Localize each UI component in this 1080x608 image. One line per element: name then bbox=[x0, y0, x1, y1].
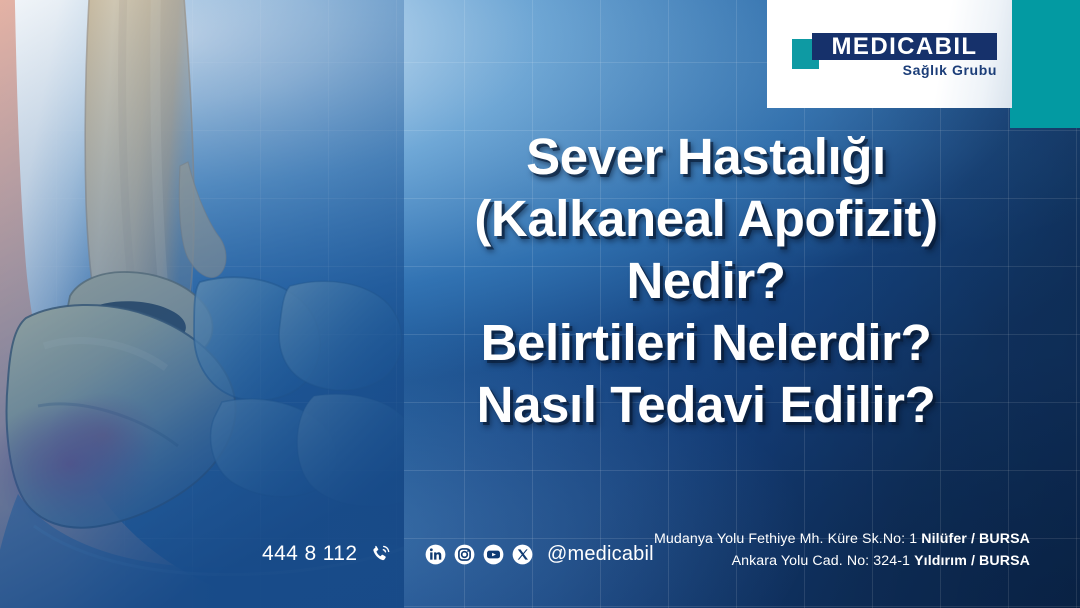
ankle-anatomy-illustration bbox=[0, 0, 404, 608]
phone-contact[interactable]: 444 8 112 bbox=[262, 542, 392, 566]
headline-line-5: Nasıl Tedavi Edilir? bbox=[356, 374, 1056, 436]
address-2-plain: Ankara Yolu Cad. No: 324-1 bbox=[732, 553, 915, 569]
headline-line-4: Belirtileri Nelerdir? bbox=[356, 312, 1056, 374]
phone-ringing-icon bbox=[369, 543, 392, 566]
promo-banner: MEDICABIL Sağlık Grubu Sever Hastalığı (… bbox=[0, 0, 1080, 608]
footer-bar: 444 8 112 bbox=[0, 520, 1080, 608]
logo-wordmark: MEDICABIL bbox=[812, 33, 997, 60]
logo-inner: MEDICABIL Sağlık Grubu bbox=[792, 33, 997, 85]
address-2-bold: Yıldırım / BURSA bbox=[914, 553, 1030, 569]
address-line-1: Mudanya Yolu Fethiye Mh. Küre Sk.No: 1 N… bbox=[654, 528, 1030, 550]
logo-tagline: Sağlık Grubu bbox=[903, 62, 997, 78]
headline: Sever Hastalığı (Kalkaneal Apofizit) Ned… bbox=[356, 126, 1056, 436]
phone-number: 444 8 112 bbox=[262, 542, 357, 566]
address-line-2: Ankara Yolu Cad. No: 324-1 Yıldırım / BU… bbox=[654, 550, 1030, 572]
headline-line-2: (Kalkaneal Apofizit) bbox=[356, 188, 1056, 250]
teal-accent-block bbox=[1010, 0, 1080, 128]
headline-line-1: Sever Hastalığı bbox=[356, 126, 1056, 188]
social-links[interactable]: @medicabil bbox=[425, 543, 654, 566]
linkedin-icon[interactable] bbox=[425, 544, 446, 565]
logo-navy-bar: MEDICABIL bbox=[812, 33, 997, 60]
brand-logo[interactable]: MEDICABIL Sağlık Grubu bbox=[767, 0, 1012, 108]
youtube-icon[interactable] bbox=[483, 544, 504, 565]
address-1-plain: Mudanya Yolu Fethiye Mh. Küre Sk.No: 1 bbox=[654, 531, 921, 547]
x-twitter-icon[interactable] bbox=[512, 544, 533, 565]
address-block: Mudanya Yolu Fethiye Mh. Küre Sk.No: 1 N… bbox=[654, 528, 1030, 572]
headline-line-3: Nedir? bbox=[356, 250, 1056, 312]
instagram-icon[interactable] bbox=[454, 544, 475, 565]
address-1-bold: Nilüfer / BURSA bbox=[921, 531, 1030, 547]
social-handle: @medicabil bbox=[547, 543, 654, 566]
